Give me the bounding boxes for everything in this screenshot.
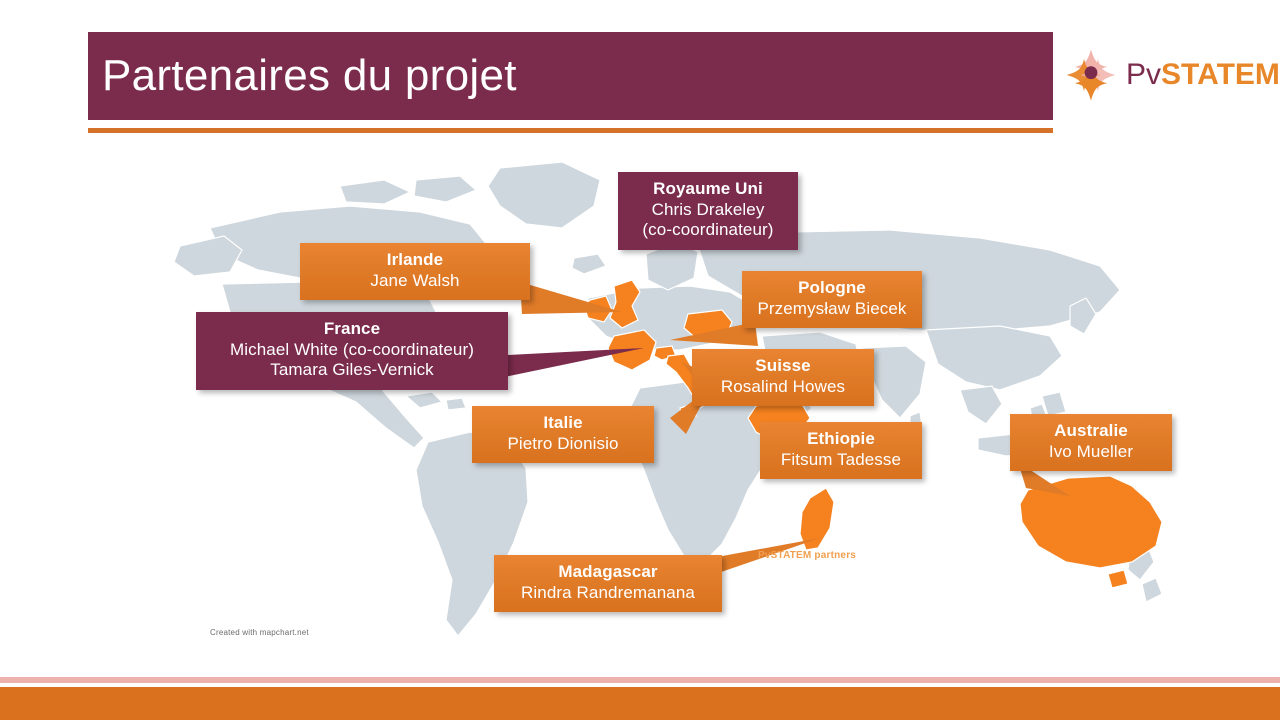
callout-pologne[interactable]: Pologne Przemysław Biecek (742, 271, 922, 328)
map-legend-label: PvSTATEM partners (758, 550, 856, 561)
callout-country-france: France (210, 319, 494, 340)
slide: Partenaires du projet PvSTATEM (0, 0, 1280, 720)
callout-australie[interactable]: Australie Ivo Mueller (1010, 414, 1172, 471)
callout-person-royaume-uni-1: Chris Drakeley (632, 200, 784, 221)
logo-word-statem: STATEM (1161, 58, 1280, 91)
callout-royaume-uni[interactable]: Royaume Uni Chris Drakeley (co-coordinat… (618, 172, 798, 250)
callout-person-australie-1: Ivo Mueller (1024, 442, 1158, 463)
callout-country-australie: Australie (1024, 421, 1158, 442)
callout-madagascar[interactable]: Madagascar Rindra Randremanana (494, 555, 722, 612)
footer-pink-rule (0, 677, 1280, 683)
callout-france[interactable]: France Michael White (co-coordinateur) T… (196, 312, 508, 390)
callout-country-irlande: Irlande (314, 250, 516, 271)
country-australia-tasmania (1108, 570, 1128, 588)
callout-person-italie-1: Pietro Dionisio (486, 434, 640, 455)
callout-country-madagascar: Madagascar (508, 562, 708, 583)
callout-ethiopie[interactable]: Ethiopie Fitsum Tadesse (760, 422, 922, 479)
callout-person-pologne-1: Przemysław Biecek (756, 299, 908, 320)
callout-person-madagascar-1: Rindra Randremanana (508, 583, 708, 604)
callout-person-france-2: Tamara Giles-Vernick (210, 360, 494, 381)
callout-person-irlande-1: Jane Walsh (314, 271, 516, 292)
pvstatem-star-icon (1062, 46, 1120, 104)
callout-country-ethiopie: Ethiopie (774, 429, 908, 450)
callout-irlande[interactable]: Irlande Jane Walsh (300, 243, 530, 300)
title-bar: Partenaires du projet (88, 32, 1053, 120)
callout-person-suisse-1: Rosalind Howes (706, 377, 860, 398)
pvstatem-logo: PvSTATEM (1062, 44, 1274, 106)
callout-country-royaume-uni: Royaume Uni (632, 179, 784, 200)
callout-country-pologne: Pologne (756, 278, 908, 299)
callout-suisse[interactable]: Suisse Rosalind Howes (692, 349, 874, 406)
pvstatem-wordmark: PvSTATEM (1126, 60, 1280, 90)
callout-country-suisse: Suisse (706, 356, 860, 377)
country-madagascar (800, 488, 834, 550)
callout-country-italie: Italie (486, 413, 640, 434)
callout-person-ethiopie-1: Fitsum Tadesse (774, 450, 908, 471)
title-underline-rule (88, 128, 1053, 133)
logo-word-pv: Pv (1126, 58, 1161, 91)
map-credit-label: Created with mapchart.net (210, 628, 309, 637)
callout-italie[interactable]: Italie Pietro Dionisio (472, 406, 654, 463)
callout-person-france-1: Michael White (co-coordinateur) (210, 340, 494, 361)
footer-orange-band (0, 687, 1280, 720)
page-title: Partenaires du projet (88, 54, 517, 98)
callout-person-royaume-uni-2: (co-coordinateur) (632, 220, 784, 241)
